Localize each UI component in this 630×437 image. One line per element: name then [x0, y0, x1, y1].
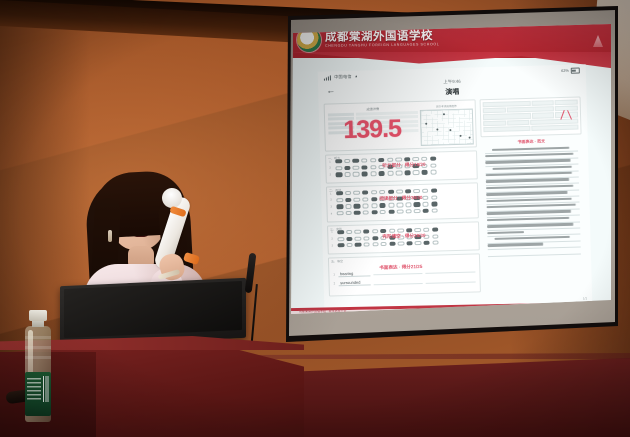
projected-slide: 成都棠湖外国语学校 CHENGDU TANGHU FOREIGN LANGUAG…: [291, 24, 611, 314]
bubble-row: 4: [331, 208, 475, 216]
fill-answer: surrounded: [338, 280, 370, 287]
data-point: [425, 123, 427, 125]
bubble-row: 3: [330, 169, 474, 177]
data-point: [443, 113, 445, 115]
essay-body: [481, 145, 585, 260]
bubble-row: 3: [332, 240, 476, 248]
battery-percent: 62%: [561, 69, 569, 73]
answer-section: 三、完形 完形填空 · 得分28/30 1 2 3: [327, 221, 480, 254]
section-tag: 一、听力: [328, 156, 340, 160]
signal-bars-icon: [324, 75, 331, 80]
data-point: [436, 128, 438, 130]
answer-sheet-header-form: [480, 96, 582, 137]
statusbar-right: 62%: [561, 68, 580, 74]
answer-section: 一、听力 听力部分 · 得分18/20 1 2 3: [325, 150, 478, 183]
section-tag: 二、阅读: [329, 188, 341, 192]
essay-line: [488, 248, 581, 257]
section-tag: 三、完形: [330, 227, 342, 231]
fill-number: 2: [334, 282, 336, 286]
big-score-value: 139.5: [343, 116, 401, 143]
bottle-neck: [32, 320, 44, 327]
section-note: 完形填空 · 得分28/30: [382, 233, 425, 240]
fill-blank-section: 五、填空 书面表达 · 得分21/25 1 hearing 2 surround…: [328, 253, 481, 296]
bottle-label-text: [27, 378, 41, 400]
school-name-pinyin: CHENGDU TANGHU FOREIGN LANGUAGES SCHOOL: [325, 42, 439, 48]
right-pane: 书面表达 · 范文: [480, 96, 586, 295]
bottle-cap: [29, 310, 47, 321]
plastic-water-bottle: [24, 310, 52, 422]
chart-plot-area: [420, 108, 474, 145]
phone-content-panes: 成绩详情 历次考试成绩趋势: [319, 96, 592, 299]
screenshot-root: 成都棠湖外国语学校 CHENGDU TANGHU FOREIGN LANGUAG…: [0, 0, 630, 437]
score-summary-card: 成绩详情 历次考试成绩趋势: [324, 99, 477, 151]
fill-number: 1: [333, 272, 335, 276]
data-point: [460, 135, 462, 137]
answer-section: 二、阅读 阅读部分 · 得分38/40 1 2 3 4: [326, 182, 479, 222]
data-point: [449, 129, 451, 131]
score-trend-chart: 历次考试成绩趋势: [420, 103, 474, 147]
earring: [108, 230, 112, 242]
laptop-screen: [64, 281, 242, 338]
header-decor-icon: [593, 35, 603, 47]
page-number: 1/1: [583, 296, 587, 300]
section-note: 听力部分 · 得分18/20: [382, 162, 425, 169]
fill-row: 2 surrounded: [334, 277, 476, 287]
bottle-barcode-icon: [43, 376, 49, 402]
battery-icon: [571, 68, 580, 74]
section-note: 书面表达 · 得分21/25: [379, 264, 422, 271]
wifi-icon: ◕: [355, 74, 358, 79]
data-point: [469, 137, 471, 139]
carrier-label: 中国电信: [334, 74, 352, 80]
left-pane: 成绩详情 历次考试成绩趋势: [324, 99, 481, 299]
red-check-mark-icon: [561, 110, 571, 120]
section-tag: 五、填空: [331, 259, 343, 263]
fill-answer: hearing: [338, 270, 370, 277]
presenter-laptop: [60, 278, 246, 346]
phone-screenshot: 中国电信 ◕ 62% ← 上午9:46 演唱 成绩详情: [318, 64, 593, 309]
section-note: 阅读部分 · 得分38/40: [379, 195, 422, 202]
